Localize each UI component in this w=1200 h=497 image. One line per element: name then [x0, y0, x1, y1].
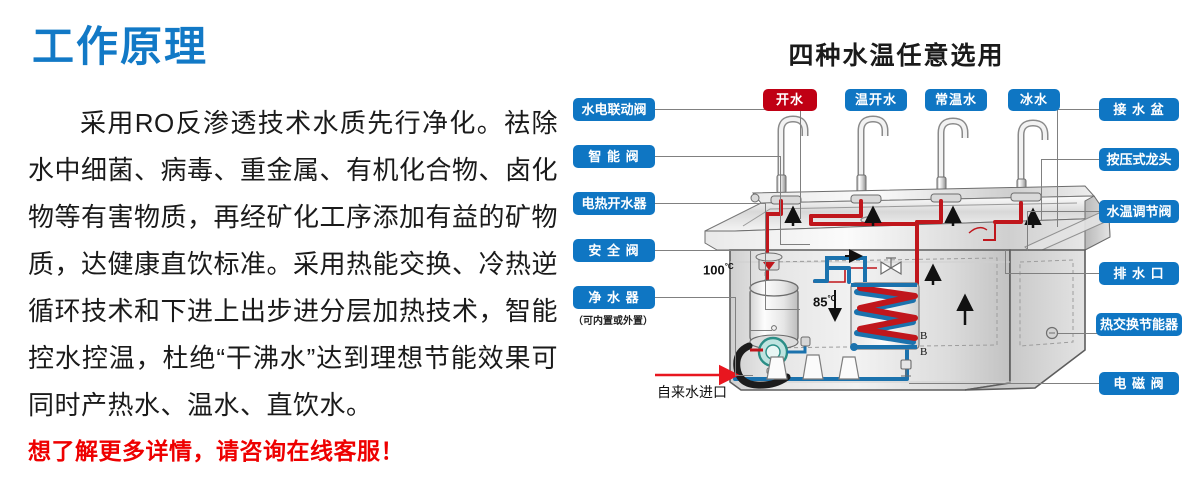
- label-drip-tray[interactable]: 接 水 盆: [1099, 98, 1179, 121]
- leader-line-right-3: [1027, 211, 1099, 212]
- page-root: 工作原理 采用RO反渗透技术水质先行净化。祛除水中细菌、病毒、重金属、有机化合物…: [0, 0, 1200, 497]
- diagram-panel: 四种水温任意选用: [565, 0, 1200, 497]
- leader-line-right-1: [1057, 109, 1099, 110]
- leader-line-left-4: [655, 250, 750, 251]
- leader-line-left-3c: [765, 309, 800, 310]
- leader-line-right-6: [909, 383, 1099, 384]
- label-water-temp-regulating-valve[interactable]: 水温调节阀: [1099, 200, 1179, 223]
- leader-line-left-1b: [800, 109, 801, 219]
- port-mark-lower: B: [920, 346, 927, 358]
- temp-badge-boiling[interactable]: 开水: [763, 89, 817, 111]
- label-water-purifier[interactable]: 净 水 器: [573, 286, 655, 309]
- temp-badge-ice[interactable]: 冰水: [1008, 89, 1060, 111]
- label-safety-valve[interactable]: 安 全 阀: [573, 239, 655, 262]
- leader-line-left-4b: [750, 250, 751, 330]
- leader-line-left-4c: [750, 330, 772, 331]
- label-solenoid-valve[interactable]: 电 磁 阀: [1099, 372, 1179, 395]
- leader-line-right-1b: [1057, 109, 1058, 227]
- label-water-electric-linkage-valve[interactable]: 水电联动阀: [573, 98, 655, 121]
- leader-line-right-4b: [1005, 250, 1006, 273]
- leader-line-left-2c: [780, 244, 810, 245]
- callout-exchanger-unit: °C: [827, 294, 836, 303]
- leader-line-right-3b: [1027, 211, 1028, 251]
- port-mark-upper: B: [920, 330, 927, 342]
- callout-exchanger-temperature: 85°C: [813, 294, 836, 309]
- temp-badge-warm[interactable]: 温开水: [845, 89, 907, 111]
- page-title: 工作原理: [32, 26, 208, 68]
- leader-line-left-2: [655, 156, 780, 157]
- leader-line-left-5c: [735, 375, 753, 376]
- label-electric-water-boiler[interactable]: 电热开水器: [573, 192, 655, 215]
- temp-badge-ambient[interactable]: 常温水: [925, 89, 987, 111]
- leader-line-right-5: [1058, 333, 1099, 334]
- left-text-column: 工作原理 采用RO反渗透技术水质先行净化。祛除水中细菌、病毒、重金属、有机化合物…: [0, 0, 565, 497]
- leader-line-left-2b: [780, 156, 781, 244]
- callout-boiler-unit: °C: [725, 262, 734, 271]
- label-push-type-faucet[interactable]: 按压式龙头: [1099, 148, 1179, 171]
- inlet-label: 自来水进口: [657, 382, 727, 402]
- leader-line-left-5b: [735, 297, 736, 375]
- callout-boiler-temperature: 100°C: [703, 262, 734, 277]
- leader-line-left-3b: [765, 203, 766, 309]
- leader-line-left-5: [655, 297, 735, 298]
- callout-exchanger-value: 85: [813, 294, 827, 309]
- label-drain-outlet[interactable]: 排 水 口: [1099, 262, 1179, 285]
- body-paragraph: 采用RO反渗透技术水质先行净化。祛除水中细菌、病毒、重金属、有机化合物、卤化物等…: [28, 100, 558, 429]
- label-smart-valve[interactable]: 智 能 阀: [573, 145, 655, 168]
- water-dispenser-illustration: B B: [565, 0, 1200, 497]
- label-heat-exchange-energy-saver[interactable]: 热交换节能器: [1096, 313, 1182, 336]
- leader-line-right-2: [1041, 159, 1099, 160]
- label-water-purifier-note: （可内置或外置）: [573, 312, 653, 327]
- callout-boiler-value: 100: [703, 262, 725, 277]
- leader-line-left-3: [655, 203, 765, 204]
- cta-text: 想了解更多详情，请咨询在线客服！: [28, 432, 404, 466]
- leader-line-right-4: [1005, 273, 1099, 274]
